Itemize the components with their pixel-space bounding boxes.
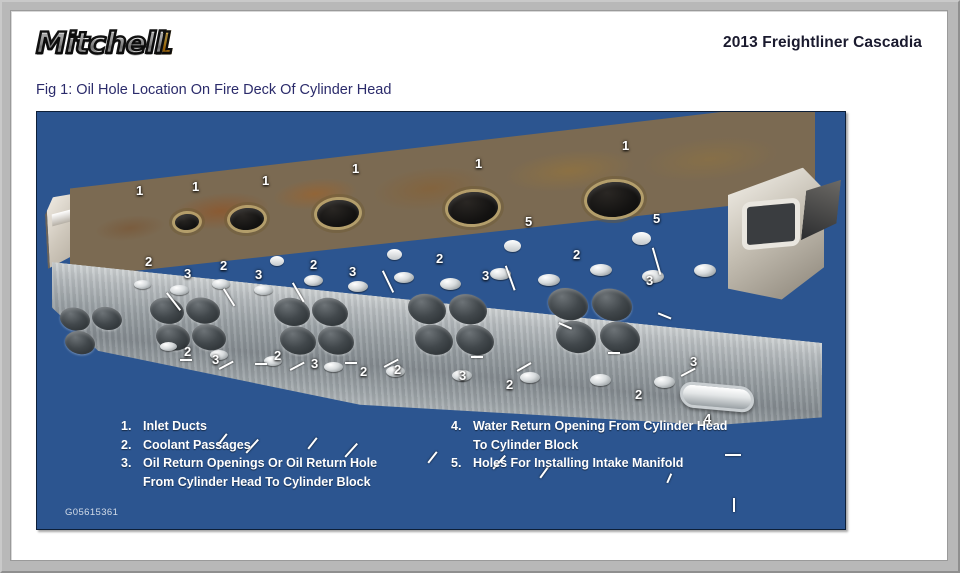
legend-number: 3. [121, 454, 143, 473]
document-header: Mitchell 1 2013 Freightliner Cascadia Fi… [11, 11, 947, 69]
callout-number-2: 2 [310, 258, 317, 271]
callout-number-2: 2 [360, 365, 367, 378]
intake-manifold-hole [387, 249, 402, 260]
legend-label: Coolant Passages [143, 436, 451, 455]
callout-number-3: 3 [212, 353, 219, 366]
callout-number-2: 2 [184, 345, 191, 358]
oil-return-hole [538, 274, 560, 286]
brand-name-text: Mitchell [36, 29, 164, 58]
oil-return-hole [440, 278, 461, 290]
intake-manifold-hole [632, 232, 651, 245]
callout-number-3: 3 [646, 274, 653, 287]
callout-number-3: 3 [690, 355, 697, 368]
callout-leader [608, 352, 620, 354]
vehicle-title: 2013 Freightliner Cascadia [723, 34, 922, 52]
coolant-passage-hole [134, 280, 151, 289]
callout-number-5: 5 [653, 212, 660, 225]
callout-number-1: 1 [192, 180, 199, 193]
callout-number-2: 2 [635, 388, 642, 401]
legend-label: Holes For Installing Intake Manifold [473, 454, 811, 473]
intake-manifold-hole [270, 256, 284, 266]
coolant-passage-hole [160, 342, 177, 351]
document-page: Mitchell 1 2013 Freightliner Cascadia Fi… [10, 10, 948, 561]
cylinder-head-photo: 11111155222223333323232232324 [37, 112, 846, 412]
callout-number-1: 1 [262, 174, 269, 187]
callout-number-3: 3 [184, 267, 191, 280]
callout-number-3: 3 [459, 369, 466, 382]
callout-number-1: 1 [352, 162, 359, 175]
coolant-passage-hole [394, 272, 414, 283]
application-window: Mitchell 1 2013 Freightliner Cascadia Fi… [0, 0, 960, 573]
callout-number-1: 1 [136, 184, 143, 197]
callout-number-1: 1 [622, 139, 629, 152]
callout-leader [180, 359, 192, 361]
callout-number-3: 3 [255, 268, 262, 281]
legend-item: 1. Inlet Ducts [121, 417, 451, 436]
callout-number-3: 3 [349, 265, 356, 278]
coolant-passage-hole [590, 374, 611, 386]
legend-label-continuation: To Cylinder Block [451, 436, 811, 455]
callout-number-5: 5 [525, 215, 532, 228]
mitchell1-logo[interactable]: Mitchell 1 [36, 27, 175, 59]
callout-number-3: 3 [482, 269, 489, 282]
intake-manifold-hole [504, 240, 521, 252]
legend-label: Inlet Ducts [143, 417, 451, 436]
legend-number: 2. [121, 436, 143, 455]
legend-item: 5. Holes For Installing Intake Manifold [451, 454, 811, 473]
callout-leader [733, 498, 735, 512]
coolant-passage-hole [694, 264, 716, 277]
callout-number-2: 2 [394, 363, 401, 376]
legend-item: 3. Oil Return Openings Or Oil Return Hol… [121, 454, 451, 473]
callout-number-3: 3 [311, 357, 318, 370]
callout-number-1: 1 [475, 157, 482, 170]
callout-number-2: 2 [145, 255, 152, 268]
callout-number-2: 2 [436, 252, 443, 265]
legend-label: Water Return Opening From Cylinder Head [473, 417, 811, 436]
legend-number: 1. [121, 417, 143, 436]
coolant-passage-hole [324, 362, 343, 372]
oil-return-hole [348, 281, 368, 292]
head-right-port-window [742, 197, 800, 250]
callout-number-2: 2 [220, 259, 227, 272]
coolant-passage-hole [590, 264, 612, 276]
figure-legend: 1. Inlet Ducts 2. Coolant Passages 3. Oi… [37, 417, 845, 491]
callout-number-2: 2 [506, 378, 513, 391]
oil-return-hole [170, 285, 189, 295]
cylinder-head-casting [42, 152, 832, 387]
callout-leader [345, 362, 357, 364]
callout-number-2: 2 [274, 349, 281, 362]
callout-leader [471, 356, 483, 358]
legend-number: 5. [451, 454, 473, 473]
callout-number-2: 2 [573, 248, 580, 261]
legend-label-continuation: From Cylinder Head To Cylinder Block [121, 473, 451, 492]
figure-caption: Fig 1: Oil Hole Location On Fire Deck Of… [36, 82, 391, 98]
figure-panel: 11111155222223333323232232324 1. Inlet D… [36, 111, 846, 530]
legend-label: Oil Return Openings Or Oil Return Hole [143, 454, 451, 473]
legend-column-left: 1. Inlet Ducts 2. Coolant Passages 3. Oi… [121, 417, 451, 491]
legend-column-right: 4. Water Return Opening From Cylinder He… [451, 417, 811, 491]
figure-id-code: G05615361 [65, 507, 118, 518]
legend-item: 2. Coolant Passages [121, 436, 451, 455]
coolant-passage-hole [212, 279, 230, 289]
callout-leader [255, 363, 267, 365]
coolant-passage-hole [304, 275, 323, 286]
legend-item: 4. Water Return Opening From Cylinder He… [451, 417, 811, 436]
legend-number: 4. [451, 417, 473, 436]
oil-return-hole [254, 285, 273, 295]
coolant-passage-hole [520, 372, 540, 383]
coolant-passage-hole [654, 376, 675, 388]
